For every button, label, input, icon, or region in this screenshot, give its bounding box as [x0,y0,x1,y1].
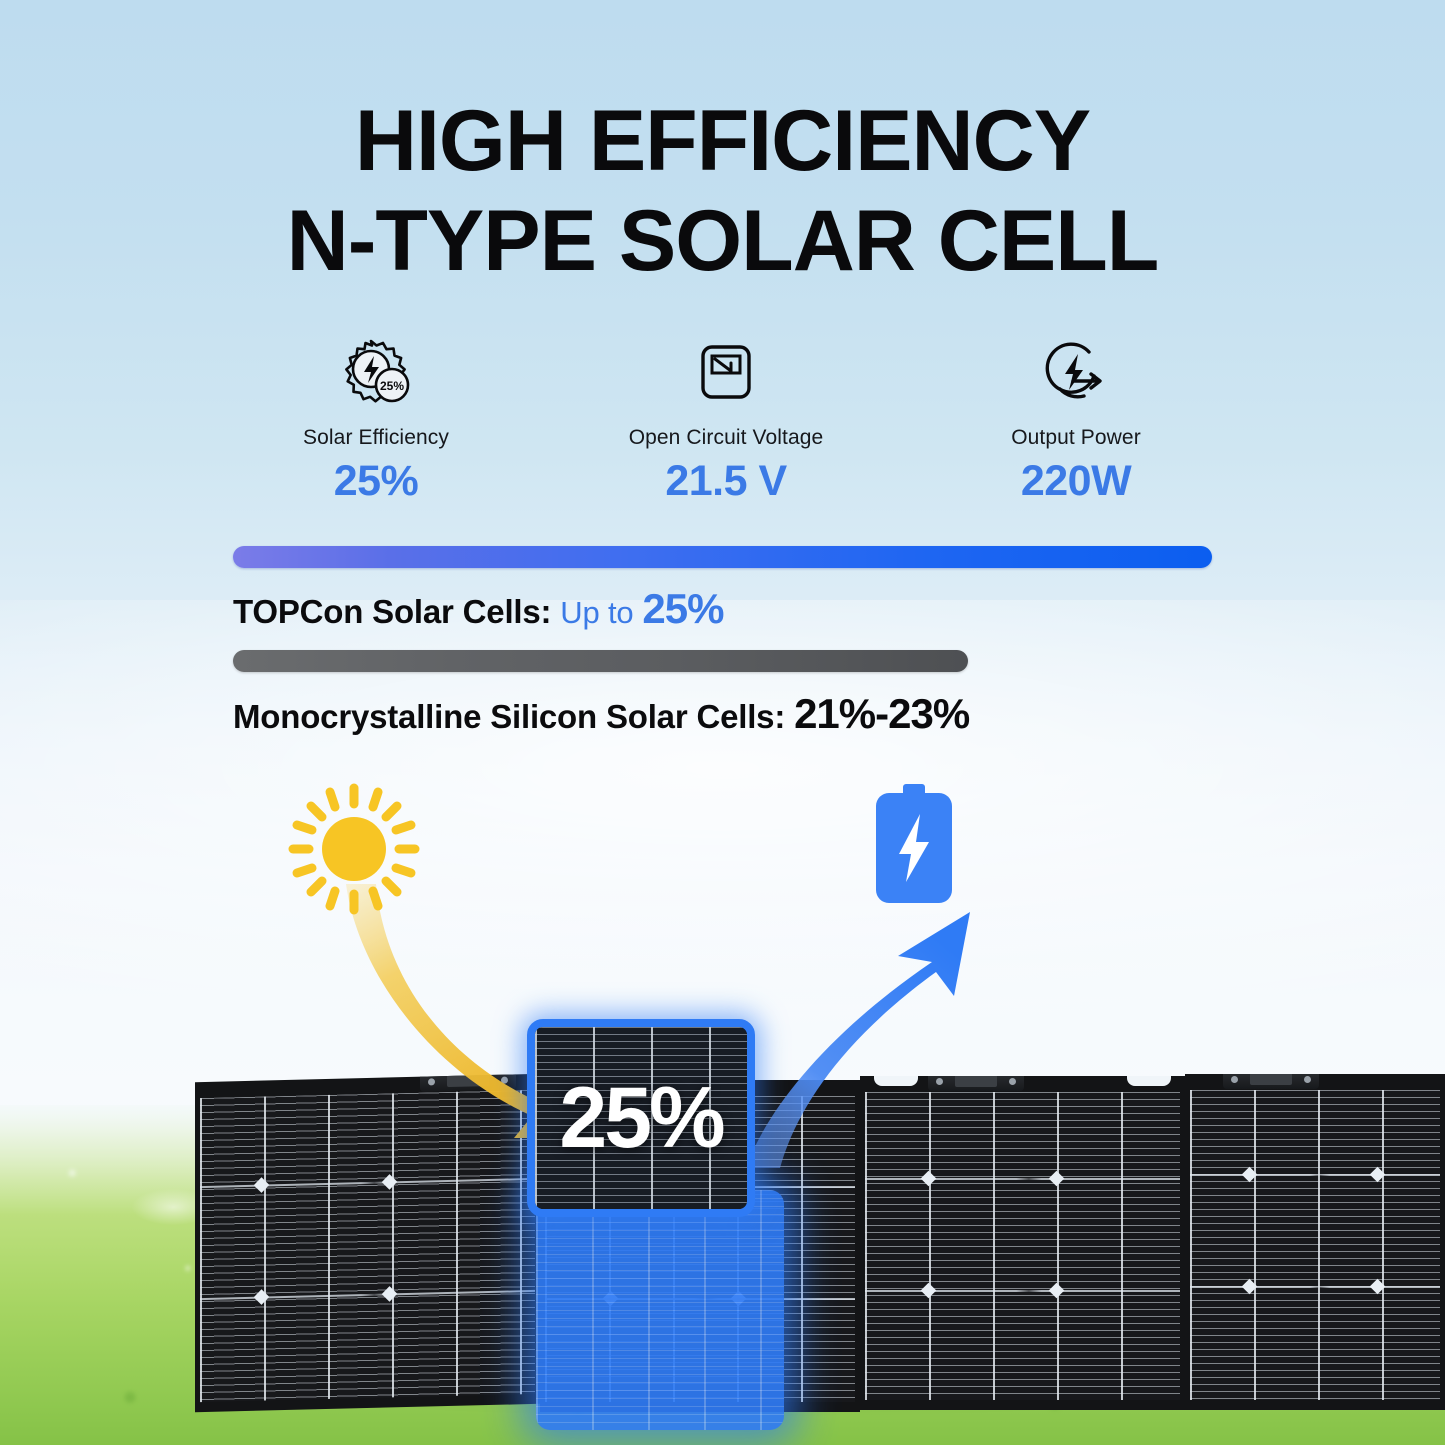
panel-crossbar [865,1290,1180,1292]
stat-label: Solar Efficiency [226,426,526,450]
stat-value: 21.5 V [576,457,876,506]
sun-icon [283,778,425,920]
voltmeter-icon [576,336,876,412]
infographic-scene: 25% HIGH EFFICIENCY N-TYPE SOLAR CELL 25… [0,0,1445,1445]
panel-busbars [1190,1090,1440,1400]
highlight-glow-texture [536,1190,784,1430]
monocrystalline-caption: Monocrystalline Silicon Solar Cells: 21%… [233,690,969,738]
stat-open-circuit-voltage: Open Circuit Voltage 21.5 V [576,336,876,506]
panel-hinge [1223,1074,1319,1089]
page-title: HIGH EFFICIENCY N-TYPE SOLAR CELL [0,92,1445,292]
monocrystalline-label: Monocrystalline Silicon Solar Cells: [233,698,785,735]
panel-crossbar [1190,1286,1440,1288]
panel-notch [1127,1076,1171,1086]
stat-output-power: Output Power 220W [926,336,1226,506]
stat-label: Open Circuit Voltage [576,426,876,450]
panel-cells [1190,1090,1440,1400]
monocrystalline-efficiency-bar [233,650,968,672]
panel-section-4 [1185,1074,1445,1410]
highlight-cell-value: 25% [535,1027,747,1209]
panel-crossbar [1190,1174,1440,1176]
highlight-cell-glow [536,1190,784,1430]
efficiency-badge-icon: 25% [226,336,526,412]
topcon-value: 25% [642,585,723,632]
page-title-line-1: HIGH EFFICIENCY [355,93,1090,189]
highlight-cell: 25% [527,1019,755,1217]
efficiency-badge-value: 25% [380,379,404,393]
hinge-plate [1250,1074,1292,1085]
stat-value: 25% [226,457,526,506]
topcon-caption: TOPCon Solar Cells: Up to 25% [233,585,723,633]
battery-charging-icon [873,784,955,906]
topcon-qualifier: Up to [560,595,633,630]
panel-crossbar [865,1178,1180,1180]
spec-stats-row: 25% Solar Efficiency 25% Open Circuit Vo… [226,336,1226,506]
stat-label: Output Power [926,426,1226,450]
topcon-efficiency-bar [233,546,1212,568]
stat-value: 220W [926,457,1226,506]
stat-solar-efficiency: 25% Solar Efficiency 25% [226,336,526,506]
power-output-icon [926,336,1226,412]
power-output-arrow-icon [738,900,1006,1170]
page-title-line-2: N-TYPE SOLAR CELL [0,192,1445,292]
topcon-label: TOPCon Solar Cells: [233,593,551,630]
monocrystalline-value: 21%-23% [794,690,969,737]
